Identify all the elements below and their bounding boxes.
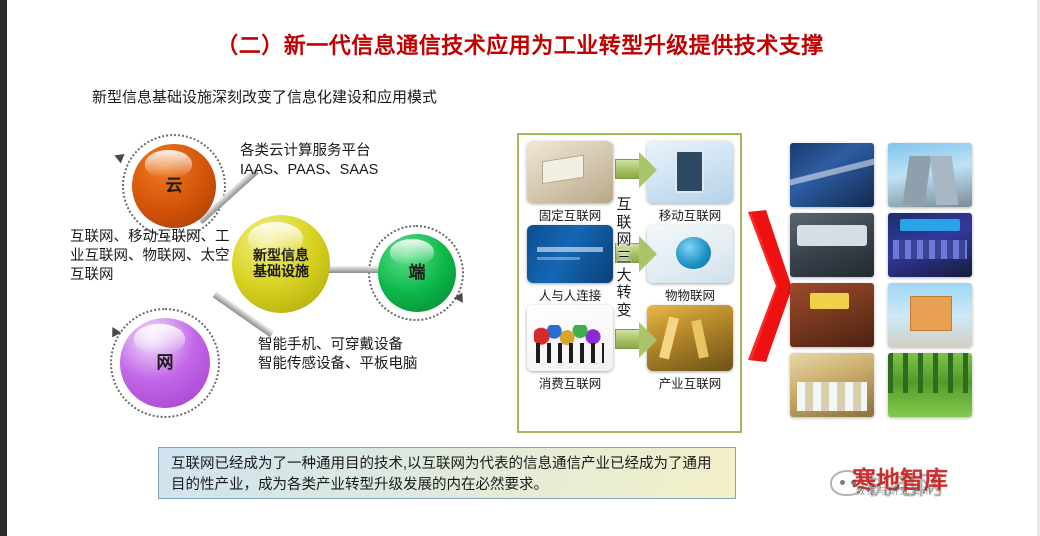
sphere-center[interactable]: 新型信息 基础设施 xyxy=(232,215,330,313)
conclusion-text: 互联网已经成为了一种通用目的技术,以互联网为代表的信息通信产业已经成为了通用目的… xyxy=(171,454,725,496)
conclusion-box: 互联网已经成为了一种通用目的技术,以互联网为代表的信息通信产业已经成为了通用目的… xyxy=(158,447,736,499)
sphere-cloud[interactable]: 云 xyxy=(132,144,216,228)
sphere-diagram: 云 新型信息 基础设施 端 网 各类云计算服务平台 IAAS、PAAS、SAAS… xyxy=(70,118,500,438)
sphere-center-line2: 基础设施 xyxy=(253,263,309,279)
photo-technology[interactable] xyxy=(790,143,874,207)
watermark: 机电网 寒地智库 数据与研究资讯 xyxy=(830,458,1035,504)
caption-mobile-internet: 移动互联网 xyxy=(643,205,737,224)
photo-escalator[interactable] xyxy=(888,143,972,207)
page-title: （二）新一代信息通信技术应用为工业转型升级提供技术支撑 xyxy=(0,28,1040,60)
annotation-cloud-line1: 各类云计算服务平台 xyxy=(240,142,378,161)
photo-mall[interactable] xyxy=(790,283,874,347)
sphere-net[interactable]: 网 xyxy=(120,318,210,408)
watermark-sub-text: 数据与研究资讯 xyxy=(856,484,933,497)
annotation-end-line2: 智能传感设备、平板电脑 xyxy=(258,355,418,374)
annotation-end: 智能手机、可穿戴设备 智能传感设备、平板电脑 xyxy=(258,336,418,374)
caption-iot: 物物联网 xyxy=(643,285,737,304)
subtitle: 新型信息基础设施深刻改变了信息化建设和应用模式 xyxy=(92,86,437,107)
photo-store[interactable] xyxy=(790,353,874,417)
sphere-center-label: 新型信息 基础设施 xyxy=(253,248,309,279)
left-edge-bar xyxy=(0,0,7,536)
photo-nasdaq[interactable] xyxy=(888,213,972,277)
orbit-arrow-cloud-icon xyxy=(112,151,124,164)
photo-forest[interactable] xyxy=(888,353,972,417)
annotation-cloud: 各类云计算服务平台 IAAS、PAAS、SAAS xyxy=(240,142,378,180)
caption-person-to-person: 人与人连接 xyxy=(523,285,617,304)
thumbnail-industrial-internet[interactable] xyxy=(647,305,733,371)
sphere-net-label: 网 xyxy=(157,353,174,372)
sphere-center-line1: 新型信息 xyxy=(253,247,309,263)
thumbnail-consumer-internet[interactable] xyxy=(527,305,613,371)
thumbnail-person-to-person[interactable] xyxy=(527,225,613,283)
transformation-vertical-label: 互联网三大转变 xyxy=(613,196,635,320)
photo-grid xyxy=(790,143,972,431)
green-arrow-row1-icon xyxy=(615,159,641,179)
caption-fixed-internet: 固定互联网 xyxy=(523,205,617,224)
thumbnail-mobile-internet[interactable] xyxy=(647,141,733,203)
red-chevron-icon xyxy=(746,208,794,366)
sphere-end-label: 端 xyxy=(409,263,426,282)
annotation-end-line1: 智能手机、可穿戴设备 xyxy=(258,336,418,355)
photo-bank[interactable] xyxy=(790,213,874,277)
green-arrow-row3-icon xyxy=(615,329,641,349)
sphere-end[interactable]: 端 xyxy=(378,234,456,312)
caption-industrial-internet: 产业互联网 xyxy=(643,373,737,392)
slide-canvas: （二）新一代信息通信技术应用为工业转型升级提供技术支撑 新型信息基础设施深刻改变… xyxy=(0,0,1040,536)
photo-building[interactable] xyxy=(888,283,972,347)
caption-consumer-internet: 消费互联网 xyxy=(523,373,617,392)
sphere-cloud-label: 云 xyxy=(166,176,183,195)
annotation-cloud-line2: IAAS、PAAS、SAAS xyxy=(240,161,378,180)
thumbnail-fixed-internet[interactable] xyxy=(527,141,613,203)
thumbnail-iot[interactable] xyxy=(647,225,733,283)
annotation-net: 互联网、移动互联网、工业互联网、物联网、太空互联网 xyxy=(70,228,235,285)
